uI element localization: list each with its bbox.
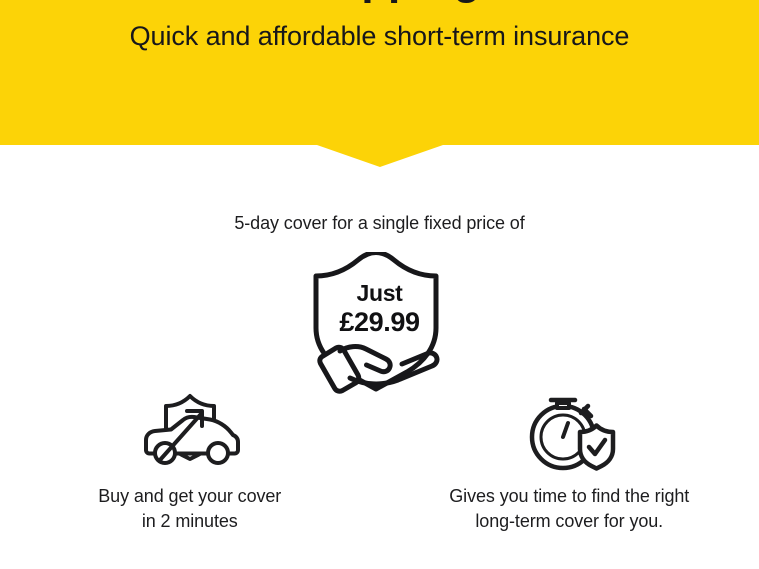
feature-caption: Gives you time to find the right long-te…: [449, 484, 689, 534]
hero-banner: Shopping Quick and affordable short-term…: [0, 0, 759, 145]
hero-subtitle: Quick and affordable short-term insuranc…: [0, 18, 759, 54]
price-intro-text: 5-day cover for a single fixed price of: [0, 211, 759, 235]
feature-item-time-to-choose: Gives you time to find the right long-te…: [380, 384, 759, 534]
feature-list: Buy and get your cover in 2 minutes: [0, 384, 759, 534]
feature-caption: Buy and get your cover in 2 minutes: [98, 484, 281, 534]
car-with-shield-arrow-icon: [138, 384, 242, 476]
shield-in-hand-icon: [306, 252, 454, 394]
chevron-down-notch-icon: [317, 145, 443, 167]
hero-title-clipped: Shopping: [0, 0, 759, 6]
stopwatch-with-check-shield-icon: [521, 384, 617, 476]
feature-item-quick-cover: Buy and get your cover in 2 minutes: [0, 384, 380, 534]
